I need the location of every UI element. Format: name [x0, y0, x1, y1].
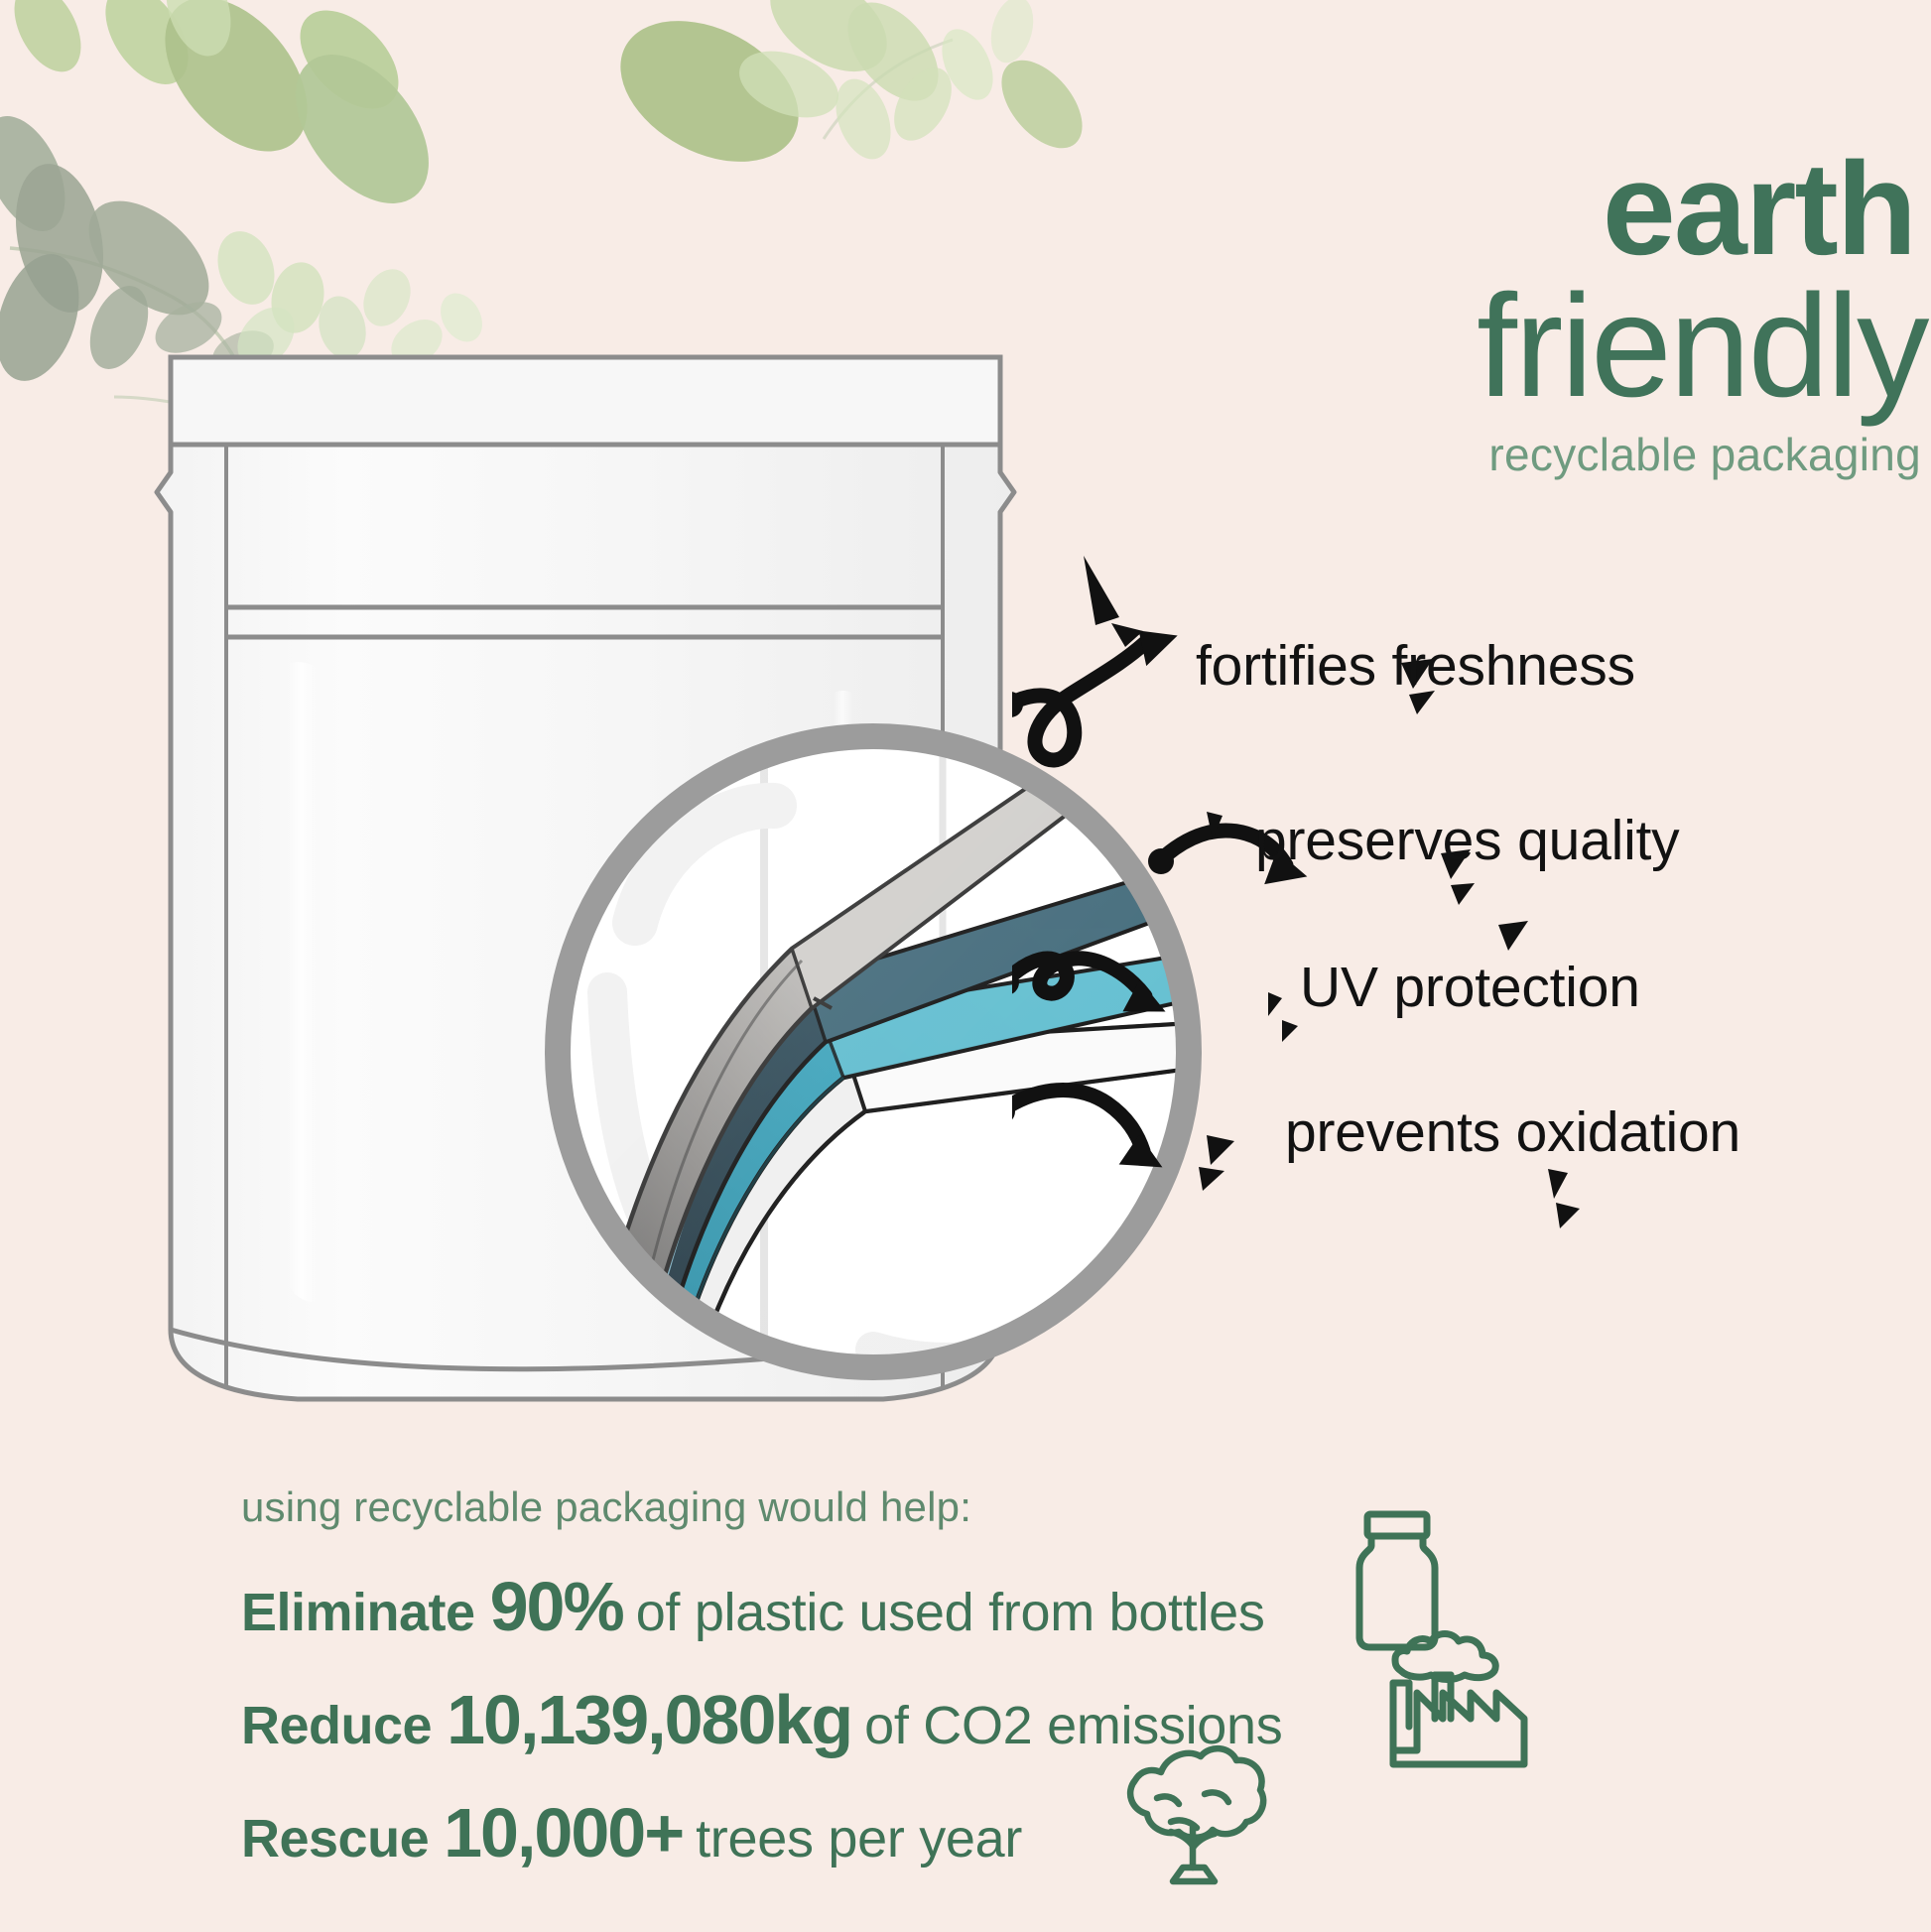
callout-label-fortifies-freshness: fortifies freshness — [1196, 633, 1635, 699]
headline-subtitle: recyclable packaging — [1143, 430, 1927, 480]
factory-icon — [1379, 1623, 1538, 1772]
stat-verb: Rescue — [241, 1808, 429, 1869]
headline-line-earth: earth — [1143, 149, 1927, 272]
callout-label-prevents-oxidation: prevents oxidation — [1285, 1099, 1740, 1165]
stat-value: 90% — [490, 1567, 623, 1646]
tree-icon — [1109, 1737, 1276, 1893]
stat-tail: trees per year — [696, 1808, 1022, 1869]
infographic-canvas: fortifies freshness preserves quality UV… — [0, 0, 1931, 1932]
stat-tail: of plastic used from bottles — [636, 1582, 1265, 1643]
stat-value: 10,000+ — [444, 1793, 683, 1872]
stat-row-rescue: Rescue 10,000+ trees per year — [241, 1793, 1650, 1872]
stat-verb: Eliminate — [241, 1582, 475, 1643]
stat-verb: Reduce — [241, 1695, 432, 1756]
headline-line-friendly: friendly — [1143, 278, 1927, 417]
callout-label-preserves-quality: preserves quality — [1255, 808, 1679, 873]
callout-label-uv-protection: UV protection — [1300, 955, 1640, 1020]
stat-value: 10,139,080kg — [447, 1680, 851, 1759]
headline-block: earth friendly recyclable packaging — [1143, 149, 1927, 480]
